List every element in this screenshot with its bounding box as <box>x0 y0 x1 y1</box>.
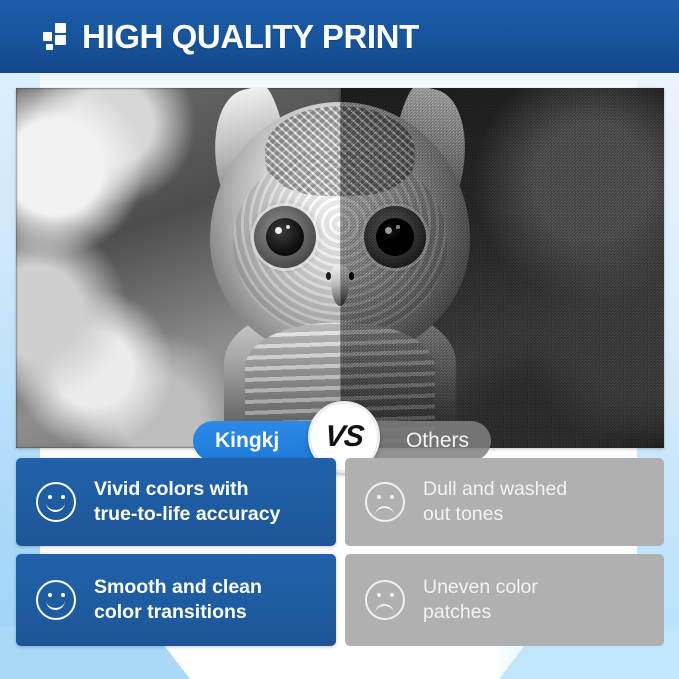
bad-card-2: Uneven color patches <box>345 554 664 646</box>
bad-card-1-line1: Dull and washed <box>423 477 567 502</box>
sad-face-icon <box>365 580 405 620</box>
competitor-label: Others <box>406 429 469 453</box>
grid-squares-icon <box>43 23 68 51</box>
bad-card-2-line1: Uneven color <box>423 575 538 600</box>
sad-face-icon <box>365 482 405 522</box>
good-card-2-text: Smooth and clean color transitions <box>94 575 262 626</box>
smiley-face-icon <box>36 482 76 522</box>
vs-label: VS <box>323 422 364 452</box>
owl-eye-left <box>254 206 316 268</box>
good-card-2-line2: color transitions <box>94 600 262 625</box>
bad-card-2-line2: patches <box>423 600 538 625</box>
hero-half-bad <box>340 88 664 448</box>
infographic-root: HIGH QUALITY PRINT <box>0 0 679 679</box>
bad-card-1-text: Dull and washed out tones <box>423 477 567 528</box>
bad-card-1: Dull and washed out tones <box>345 458 664 546</box>
split-divider <box>340 88 341 448</box>
owl-pupil-left <box>266 218 304 256</box>
hero-half-good <box>16 88 340 448</box>
hero-comparison-image <box>16 88 664 448</box>
header-bar: HIGH QUALITY PRINT <box>0 0 679 73</box>
good-card-1-line2: true-to-life accuracy <box>94 502 280 527</box>
owl-left-half <box>16 88 340 448</box>
owl-nostril-left <box>326 272 331 280</box>
bad-card-1-line2: out tones <box>423 502 567 527</box>
good-card-1-line1: Vivid colors with <box>94 477 280 502</box>
noise-grain-overlay <box>340 88 664 448</box>
versus-row: Kingkj Others VS <box>0 421 679 463</box>
good-card-2-line1: Smooth and clean <box>94 575 262 600</box>
good-card-1-text: Vivid colors with true-to-life accuracy <box>94 477 280 528</box>
good-card-1: Vivid colors with true-to-life accuracy <box>16 458 336 546</box>
good-card-2: Smooth and clean color transitions <box>16 554 336 646</box>
bad-card-2-text: Uneven color patches <box>423 575 538 626</box>
header-content: HIGH QUALITY PRINT <box>0 20 419 53</box>
brand-label: Kingkj <box>215 429 279 453</box>
smiley-face-icon <box>36 580 76 620</box>
page-title: HIGH QUALITY PRINT <box>82 20 419 53</box>
